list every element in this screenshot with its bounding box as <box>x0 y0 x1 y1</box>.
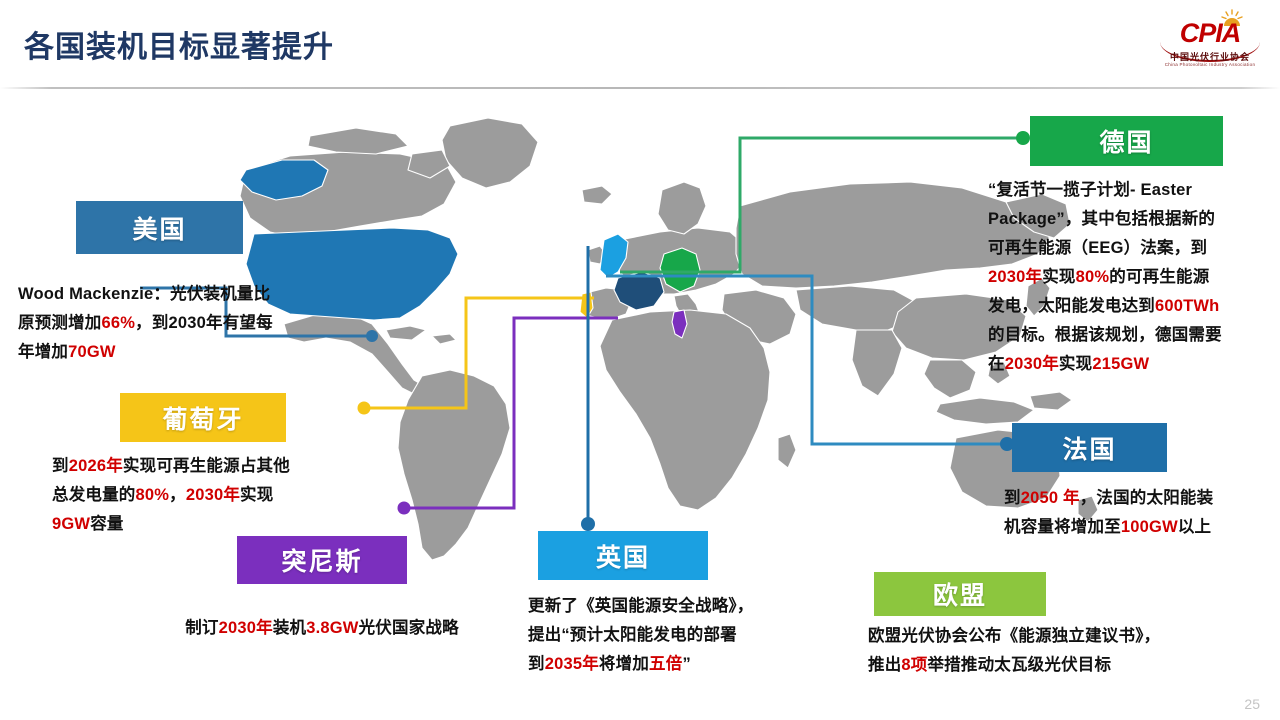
text-run: 的可再生能源 <box>1109 268 1209 286</box>
connector-uk <box>578 246 598 536</box>
text-line: 推出8项举措推动太瓦级光伏目标 <box>868 651 1208 680</box>
text-run: 在 <box>988 355 1005 373</box>
text-run: 实现 <box>1059 355 1092 373</box>
text-run: 光伏国家战略 <box>359 619 459 637</box>
text-run: ，到2030年有望每 <box>135 314 273 332</box>
text-run: Wood Mackenzie：光伏装机量比 <box>18 285 270 303</box>
page-title: 各国装机目标显著提升 <box>24 22 334 66</box>
text-line: 2030年实现80%的可再生能源 <box>988 263 1276 292</box>
highlight-run: 2030年 <box>219 619 273 637</box>
callout-text-portugal: 到2026年实现可再生能源占其他总发电量的80%，2030年实现9GW容量 <box>52 452 402 539</box>
text-line: 制订2030年装机3.8GW光伏国家战略 <box>140 614 504 643</box>
text-line: 的目标。根据该规划，德国需要 <box>988 321 1276 350</box>
text-run: 可再生能源（EEG）法案，到 <box>988 239 1207 257</box>
callout-label-text-tunisia: 突尼斯 <box>281 542 362 578</box>
highlight-run: 70GW <box>68 343 116 361</box>
text-run: 举措推动太瓦级光伏目标 <box>927 656 1111 674</box>
text-line: 可再生能源（EEG）法案，到 <box>988 234 1276 263</box>
text-run: 原预测增加 <box>18 314 102 332</box>
page-number: 25 <box>1244 696 1260 712</box>
text-line: 总发电量的80%，2030年实现 <box>52 481 402 510</box>
text-run: 到 <box>1004 489 1021 507</box>
text-run: 发电，太阳能发电达到 <box>988 297 1155 315</box>
text-run: 容量 <box>90 515 123 533</box>
text-run: ，法国的太阳能装 <box>1080 489 1214 507</box>
text-run: 更新了《英国能源安全战略》， <box>528 597 754 615</box>
callout-text-tunisia: 制订2030年装机3.8GW光伏国家战略 <box>140 614 504 643</box>
text-run: 机容量将增加至 <box>1004 518 1121 536</box>
text-run: 欧盟光伏协会公布《能源独立建议书》， <box>868 627 1160 645</box>
callout-label-text-germany: 德国 <box>1099 123 1153 159</box>
text-line: 到2035年将增加五倍” <box>528 650 858 679</box>
cpia-logo: CPIA 中国光伏行业协会 China Photovoltaic Industr… <box>1156 6 1264 72</box>
highlight-run: 80% <box>136 486 170 504</box>
callout-label-uk[interactable]: 英国 <box>538 531 708 580</box>
callout-label-text-uk: 英国 <box>596 538 650 574</box>
text-line: “复活节一揽子计划- Easter <box>988 176 1276 205</box>
logo-english-name: China Photovoltaic Industry Association <box>1156 62 1264 67</box>
highlight-run: 2030年 <box>186 486 240 504</box>
connector-germany <box>620 130 1032 282</box>
text-run: ， <box>169 486 186 504</box>
text-run: 到 <box>528 655 545 673</box>
callout-text-eu: 欧盟光伏协会公布《能源独立建议书》，推出8项举措推动太瓦级光伏目标 <box>868 622 1208 680</box>
map-region-new-guinea <box>1030 392 1072 410</box>
connector-france <box>606 268 1016 454</box>
text-line: 到2050 年，法国的太阳能装 <box>1004 484 1280 513</box>
text-run: 将增加 <box>599 655 649 673</box>
map-region-iceland <box>582 186 612 204</box>
callout-label-tunisia[interactable]: 突尼斯 <box>237 536 407 584</box>
map-region-greenland <box>442 118 538 188</box>
text-line: 提出“预计太阳能发电的部署 <box>528 621 858 650</box>
callout-label-france[interactable]: 法国 <box>1012 423 1167 472</box>
text-line: 欧盟光伏协会公布《能源独立建议书》， <box>868 622 1208 651</box>
map-region-arctic-islands <box>308 128 408 154</box>
callout-text-usa: Wood Mackenzie：光伏装机量比原预测增加66%，到2030年有望每年… <box>18 280 378 367</box>
callout-label-text-france: 法国 <box>1062 430 1116 466</box>
text-line: 更新了《英国能源安全战略》， <box>528 592 858 621</box>
highlight-run: 2050 年 <box>1021 489 1080 507</box>
highlight-run: 100GW <box>1121 518 1178 536</box>
text-run: 实现 <box>1042 268 1075 286</box>
highlight-run: 600TWh <box>1155 297 1219 315</box>
callout-label-text-usa: 美国 <box>132 210 186 246</box>
text-line: 9GW容量 <box>52 510 402 539</box>
text-run: 装机 <box>273 619 306 637</box>
text-run: Package”，其中包括根据新的 <box>988 210 1215 228</box>
text-line: Package”，其中包括根据新的 <box>988 205 1276 234</box>
callout-label-text-portugal: 葡萄牙 <box>162 400 243 436</box>
text-run: 提出“预计太阳能发电的部署 <box>528 626 737 644</box>
slide-root: 各国装机目标显著提升 CPIA 中国光伏行业协会 China Photovolt… <box>0 0 1280 720</box>
callout-text-uk: 更新了《英国能源安全战略》，提出“预计太阳能发电的部署到2035年将增加五倍” <box>528 592 858 679</box>
text-run: 制订 <box>185 619 218 637</box>
highlight-run: 215GW <box>1092 355 1149 373</box>
callout-label-text-eu: 欧盟 <box>933 576 987 612</box>
callout-text-france: 到2050 年，法国的太阳能装机容量将增加至100GW以上 <box>1004 484 1280 542</box>
text-run: 推出 <box>868 656 901 674</box>
highlight-run: 2030年 <box>1005 355 1059 373</box>
text-run: “复活节一揽子计划- Easter <box>988 181 1192 199</box>
highlight-run: 80% <box>1076 268 1110 286</box>
header-divider <box>0 87 1280 89</box>
highlight-run: 9GW <box>52 515 90 533</box>
text-run: 实现可再生能源占其他 <box>123 457 290 475</box>
text-run: 以上 <box>1178 518 1211 536</box>
text-line: 发电，太阳能发电达到600TWh <box>988 292 1276 321</box>
text-run: 实现 <box>240 486 273 504</box>
highlight-run: 2026年 <box>69 457 123 475</box>
callout-label-usa[interactable]: 美国 <box>76 201 243 254</box>
callout-label-germany[interactable]: 德国 <box>1030 116 1223 166</box>
callout-text-germany: “复活节一揽子计划- EasterPackage”，其中包括根据新的可再生能源（… <box>988 176 1276 379</box>
highlight-run: 2035年 <box>545 655 599 673</box>
text-line: 原预测增加66%，到2030年有望每 <box>18 309 378 338</box>
text-run: 的目标。根据该规划，德国需要 <box>988 326 1222 344</box>
highlight-run: 3.8GW <box>306 619 358 637</box>
text-line: Wood Mackenzie：光伏装机量比 <box>18 280 378 309</box>
highlight-run: 五倍 <box>649 655 682 673</box>
text-line: 年增加70GW <box>18 338 378 367</box>
text-run: 到 <box>52 457 69 475</box>
highlight-run: 2030年 <box>988 268 1042 286</box>
callout-label-portugal[interactable]: 葡萄牙 <box>120 393 286 442</box>
text-run: 总发电量的 <box>52 486 136 504</box>
callout-label-eu[interactable]: 欧盟 <box>874 572 1046 616</box>
text-run: ” <box>682 655 690 673</box>
text-line: 机容量将增加至100GW以上 <box>1004 513 1280 542</box>
text-line: 到2026年实现可再生能源占其他 <box>52 452 402 481</box>
highlight-run: 8项 <box>901 656 927 674</box>
text-run: 年增加 <box>18 343 68 361</box>
highlight-run: 66% <box>102 314 136 332</box>
text-line: 在2030年实现215GW <box>988 350 1276 379</box>
